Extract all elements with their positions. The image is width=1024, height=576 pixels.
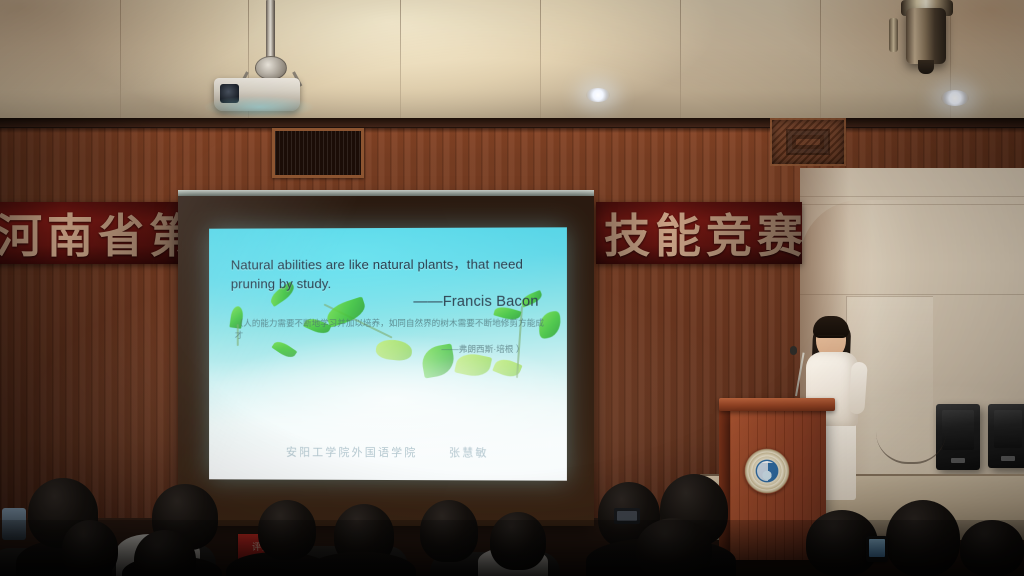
presenter-lower-body bbox=[822, 418, 856, 500]
audience-phone bbox=[866, 536, 888, 562]
slide-quote-chinese-text: （人的能力需要不断地学习并加以培养，如同自然界的树木需要不断地修剪方能成才 bbox=[235, 318, 544, 341]
handheld-camera bbox=[2, 508, 26, 540]
phone-screen bbox=[617, 511, 637, 521]
presenter-glasses bbox=[818, 335, 844, 343]
phone-screen bbox=[869, 539, 885, 557]
loudspeaker-badge bbox=[951, 458, 965, 463]
banner-left-text: 河南省第 bbox=[0, 202, 190, 264]
loudspeaker-badge bbox=[1001, 456, 1015, 461]
projector-mount-pole bbox=[266, 0, 275, 62]
audience-member-head bbox=[258, 500, 316, 560]
slide-quote-chinese: （人的能力需要不断地学习并加以培养，如同自然界的树木需要不断地修剪方能成才 ——… bbox=[235, 317, 547, 356]
slide-quote-english: Natural abilities are like natural plant… bbox=[231, 256, 549, 294]
slide-footer-organization: 安阳工学院外国语学院 bbox=[286, 447, 418, 459]
slide-attribution-chinese: ——弗朗西斯·培根 ） bbox=[235, 343, 547, 356]
presentation-hall-photo: 河南省第 技能竞赛 Natural abilities are like nat… bbox=[0, 0, 1024, 576]
audience-member-head bbox=[636, 518, 712, 576]
recessed-ceiling-light bbox=[941, 90, 969, 106]
audience-member-head bbox=[886, 500, 960, 576]
spotlight-yoke bbox=[889, 18, 898, 52]
audience-member-head bbox=[62, 520, 118, 576]
microphone-capsule bbox=[790, 346, 797, 355]
slide-footer-name: 张慧敏 bbox=[449, 447, 489, 459]
audience-member-head bbox=[960, 520, 1024, 576]
slide-footer: 安阳工学院外国语学院 张慧敏 bbox=[209, 444, 567, 461]
wall-loudspeaker bbox=[988, 404, 1024, 468]
banner-right-text: 技能竞赛 bbox=[604, 202, 802, 264]
audience-member-head bbox=[420, 500, 478, 562]
spotlight-lens-hood bbox=[918, 60, 934, 74]
projector-beam-glow bbox=[204, 96, 314, 118]
podium-lectern-top bbox=[719, 398, 835, 411]
stage-spotlight bbox=[906, 8, 946, 64]
slide-attribution: ——Francis Bacon bbox=[413, 294, 538, 310]
university-seal-icon bbox=[744, 448, 790, 494]
audience-phone bbox=[614, 508, 640, 524]
projected-slide: Natural abilities are like natural plant… bbox=[209, 227, 567, 480]
banner-right: 技能竞赛 bbox=[596, 202, 802, 264]
ceiling-shading bbox=[0, 0, 1024, 125]
banner-left: 河南省第 bbox=[0, 202, 190, 264]
audience-member-head bbox=[490, 512, 546, 570]
recessed-ceiling-light bbox=[586, 88, 610, 102]
projector-mount-joint bbox=[255, 56, 287, 80]
